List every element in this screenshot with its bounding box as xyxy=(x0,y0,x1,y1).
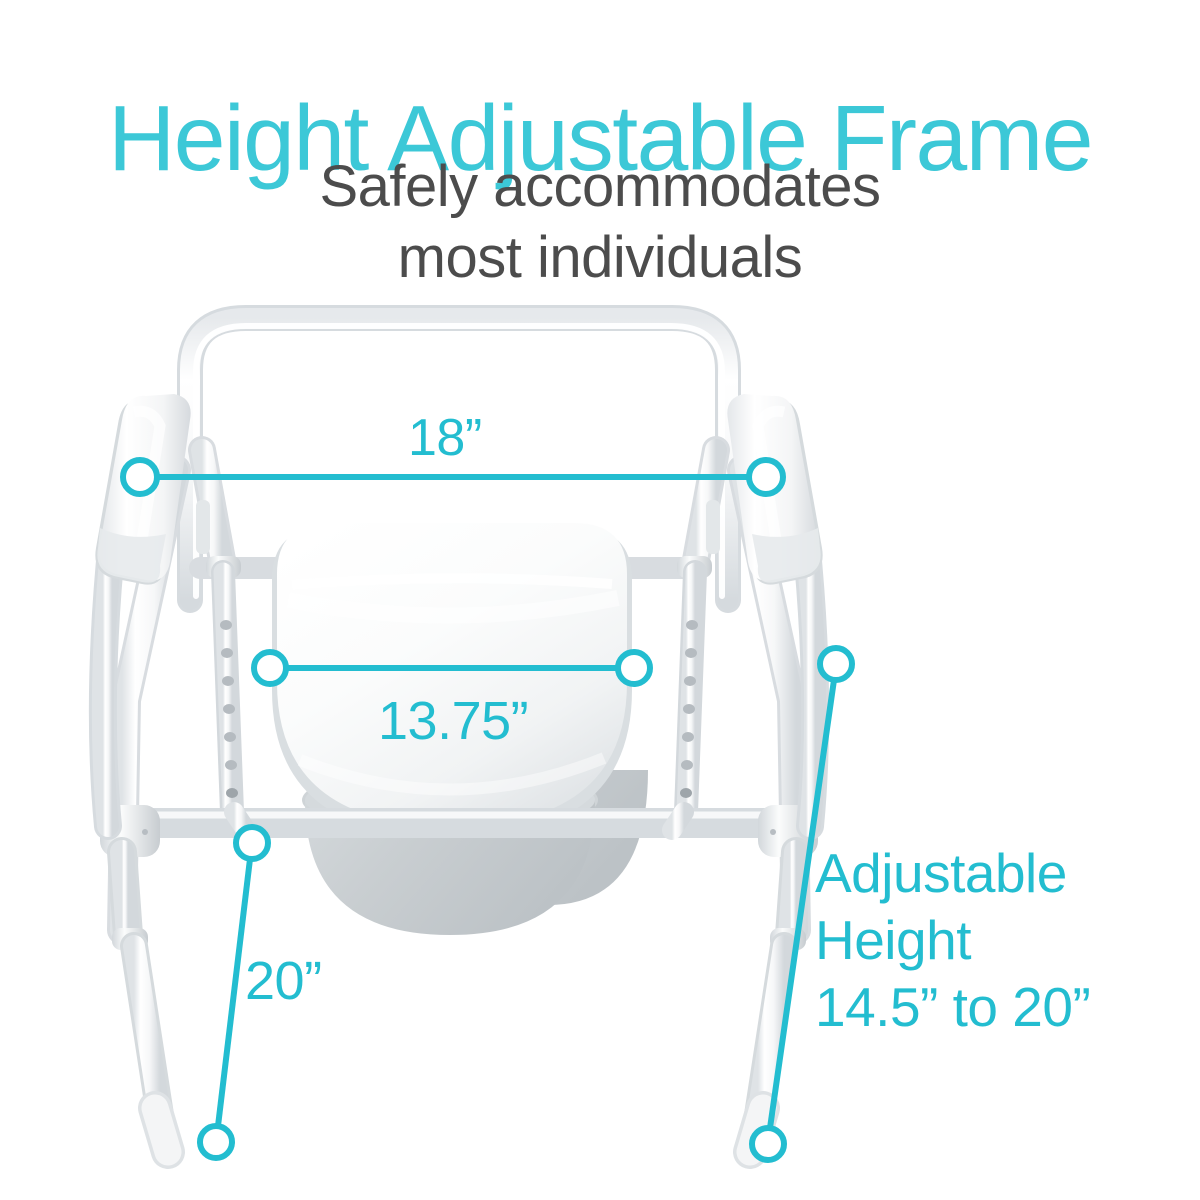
adjustable-height-line-2: Height xyxy=(815,907,1090,974)
left-armrest-support xyxy=(103,540,112,826)
measurement-label-adjustable-height: Adjustable Height 14.5” to 20” xyxy=(815,840,1090,1041)
adjustable-height-line-3: 14.5” to 20” xyxy=(815,974,1090,1041)
left-lower-leg xyxy=(112,852,168,1152)
measurement-label-frame-depth: 20” xyxy=(245,950,322,1012)
measurement-label-seat-depth: 13.75” xyxy=(378,690,528,752)
infographic-page: Height Adjustable Frame Safely accommoda… xyxy=(0,0,1200,1200)
subtitle-line-2: most individuals xyxy=(0,223,1200,294)
subtitle-line-1: Safely accommodates xyxy=(0,152,1200,223)
right-armrest-support xyxy=(806,540,815,826)
measurement-label-seat-width: 18” xyxy=(408,408,482,468)
toilet-seat-lid xyxy=(272,523,632,838)
upright-bracket-right xyxy=(706,500,720,554)
right-lower-leg xyxy=(750,852,806,1152)
right-front-lower-leg xyxy=(672,812,684,830)
page-subtitle: Safely accommodates most individuals xyxy=(0,152,1200,294)
upright-bracket-left xyxy=(196,500,210,554)
adjustable-height-line-1: Adjustable xyxy=(815,840,1090,907)
